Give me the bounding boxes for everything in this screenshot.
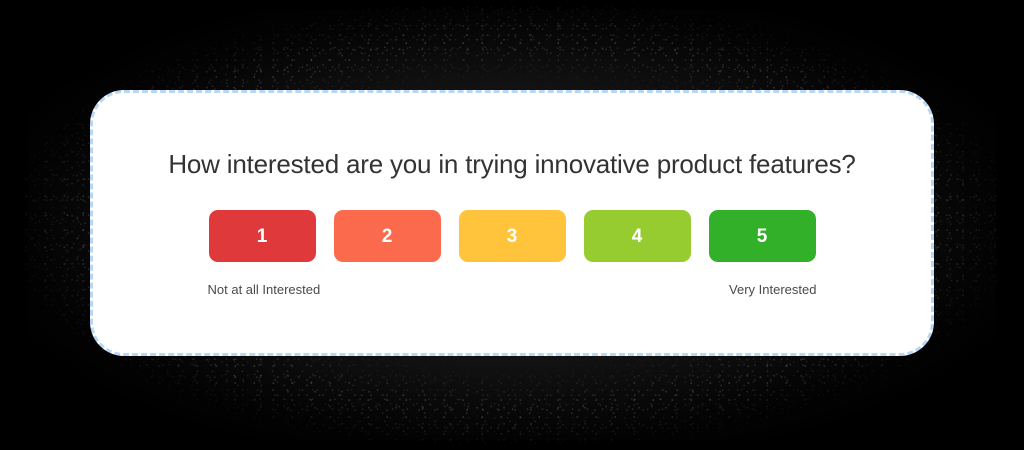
rating-button-5[interactable]: 5 — [709, 210, 816, 262]
question-title: How interested are you in trying innovat… — [168, 149, 855, 180]
high-anchor-label: Very Interested — [729, 282, 816, 297]
rating-button-3[interactable]: 3 — [459, 210, 566, 262]
rating-scale-group: 1 2 3 4 5 — [209, 210, 816, 262]
survey-card: How interested are you in trying innovat… — [90, 90, 934, 356]
scale-anchor-labels: Not at all Interested Very Interested — [208, 282, 817, 297]
rating-button-4[interactable]: 4 — [584, 210, 691, 262]
rating-button-2[interactable]: 2 — [334, 210, 441, 262]
low-anchor-label: Not at all Interested — [208, 282, 321, 297]
rating-button-1[interactable]: 1 — [209, 210, 316, 262]
